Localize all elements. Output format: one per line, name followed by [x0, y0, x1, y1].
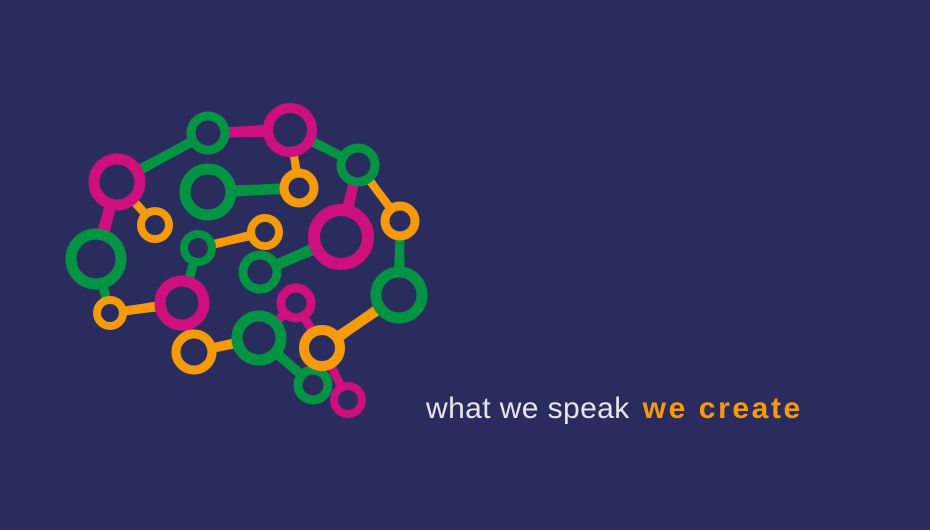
brain-network-logo	[0, 0, 470, 470]
node-magenta-lower-left-hole	[166, 287, 199, 320]
splash-screen: what we speak we create	[0, 0, 930, 530]
node-green-mid-small-hole	[248, 260, 273, 285]
node-orange-small-left-hole	[145, 215, 165, 235]
node-orange-center-hole	[255, 222, 275, 242]
node-magenta-top-large-hole	[273, 113, 307, 147]
node-green-center-large-hole	[191, 175, 226, 210]
node-magenta-bottom-tip-hole	[338, 390, 358, 410]
node-green-bottom-center-hole	[243, 322, 276, 355]
node-green-left-large-hole	[77, 240, 116, 279]
node-magenta-center-large-hole	[320, 216, 362, 258]
node-green-bottom-tip-hole	[303, 375, 324, 396]
node-magenta-upper-left-hole	[100, 165, 135, 200]
logo-node-group	[71, 108, 422, 414]
tagline: what we speak we create	[426, 392, 803, 430]
node-orange-bottom-left-hole	[181, 339, 208, 366]
node-magenta-small-mid-hole	[286, 293, 307, 314]
node-orange-far-left-hole	[101, 304, 119, 322]
node-green-small-center-hole	[188, 238, 208, 258]
tagline-accent-text: we create	[643, 392, 803, 426]
node-orange-right-upper-hole	[390, 211, 411, 232]
node-orange-bottom-right-hole	[309, 335, 335, 361]
node-green-top-small-hole	[196, 121, 221, 146]
tagline-light-text: what we speak	[426, 392, 630, 426]
node-green-upper-right-hole	[346, 153, 371, 178]
node-orange-mid-top-hole	[289, 178, 310, 199]
node-green-right-large-hole	[382, 278, 417, 313]
